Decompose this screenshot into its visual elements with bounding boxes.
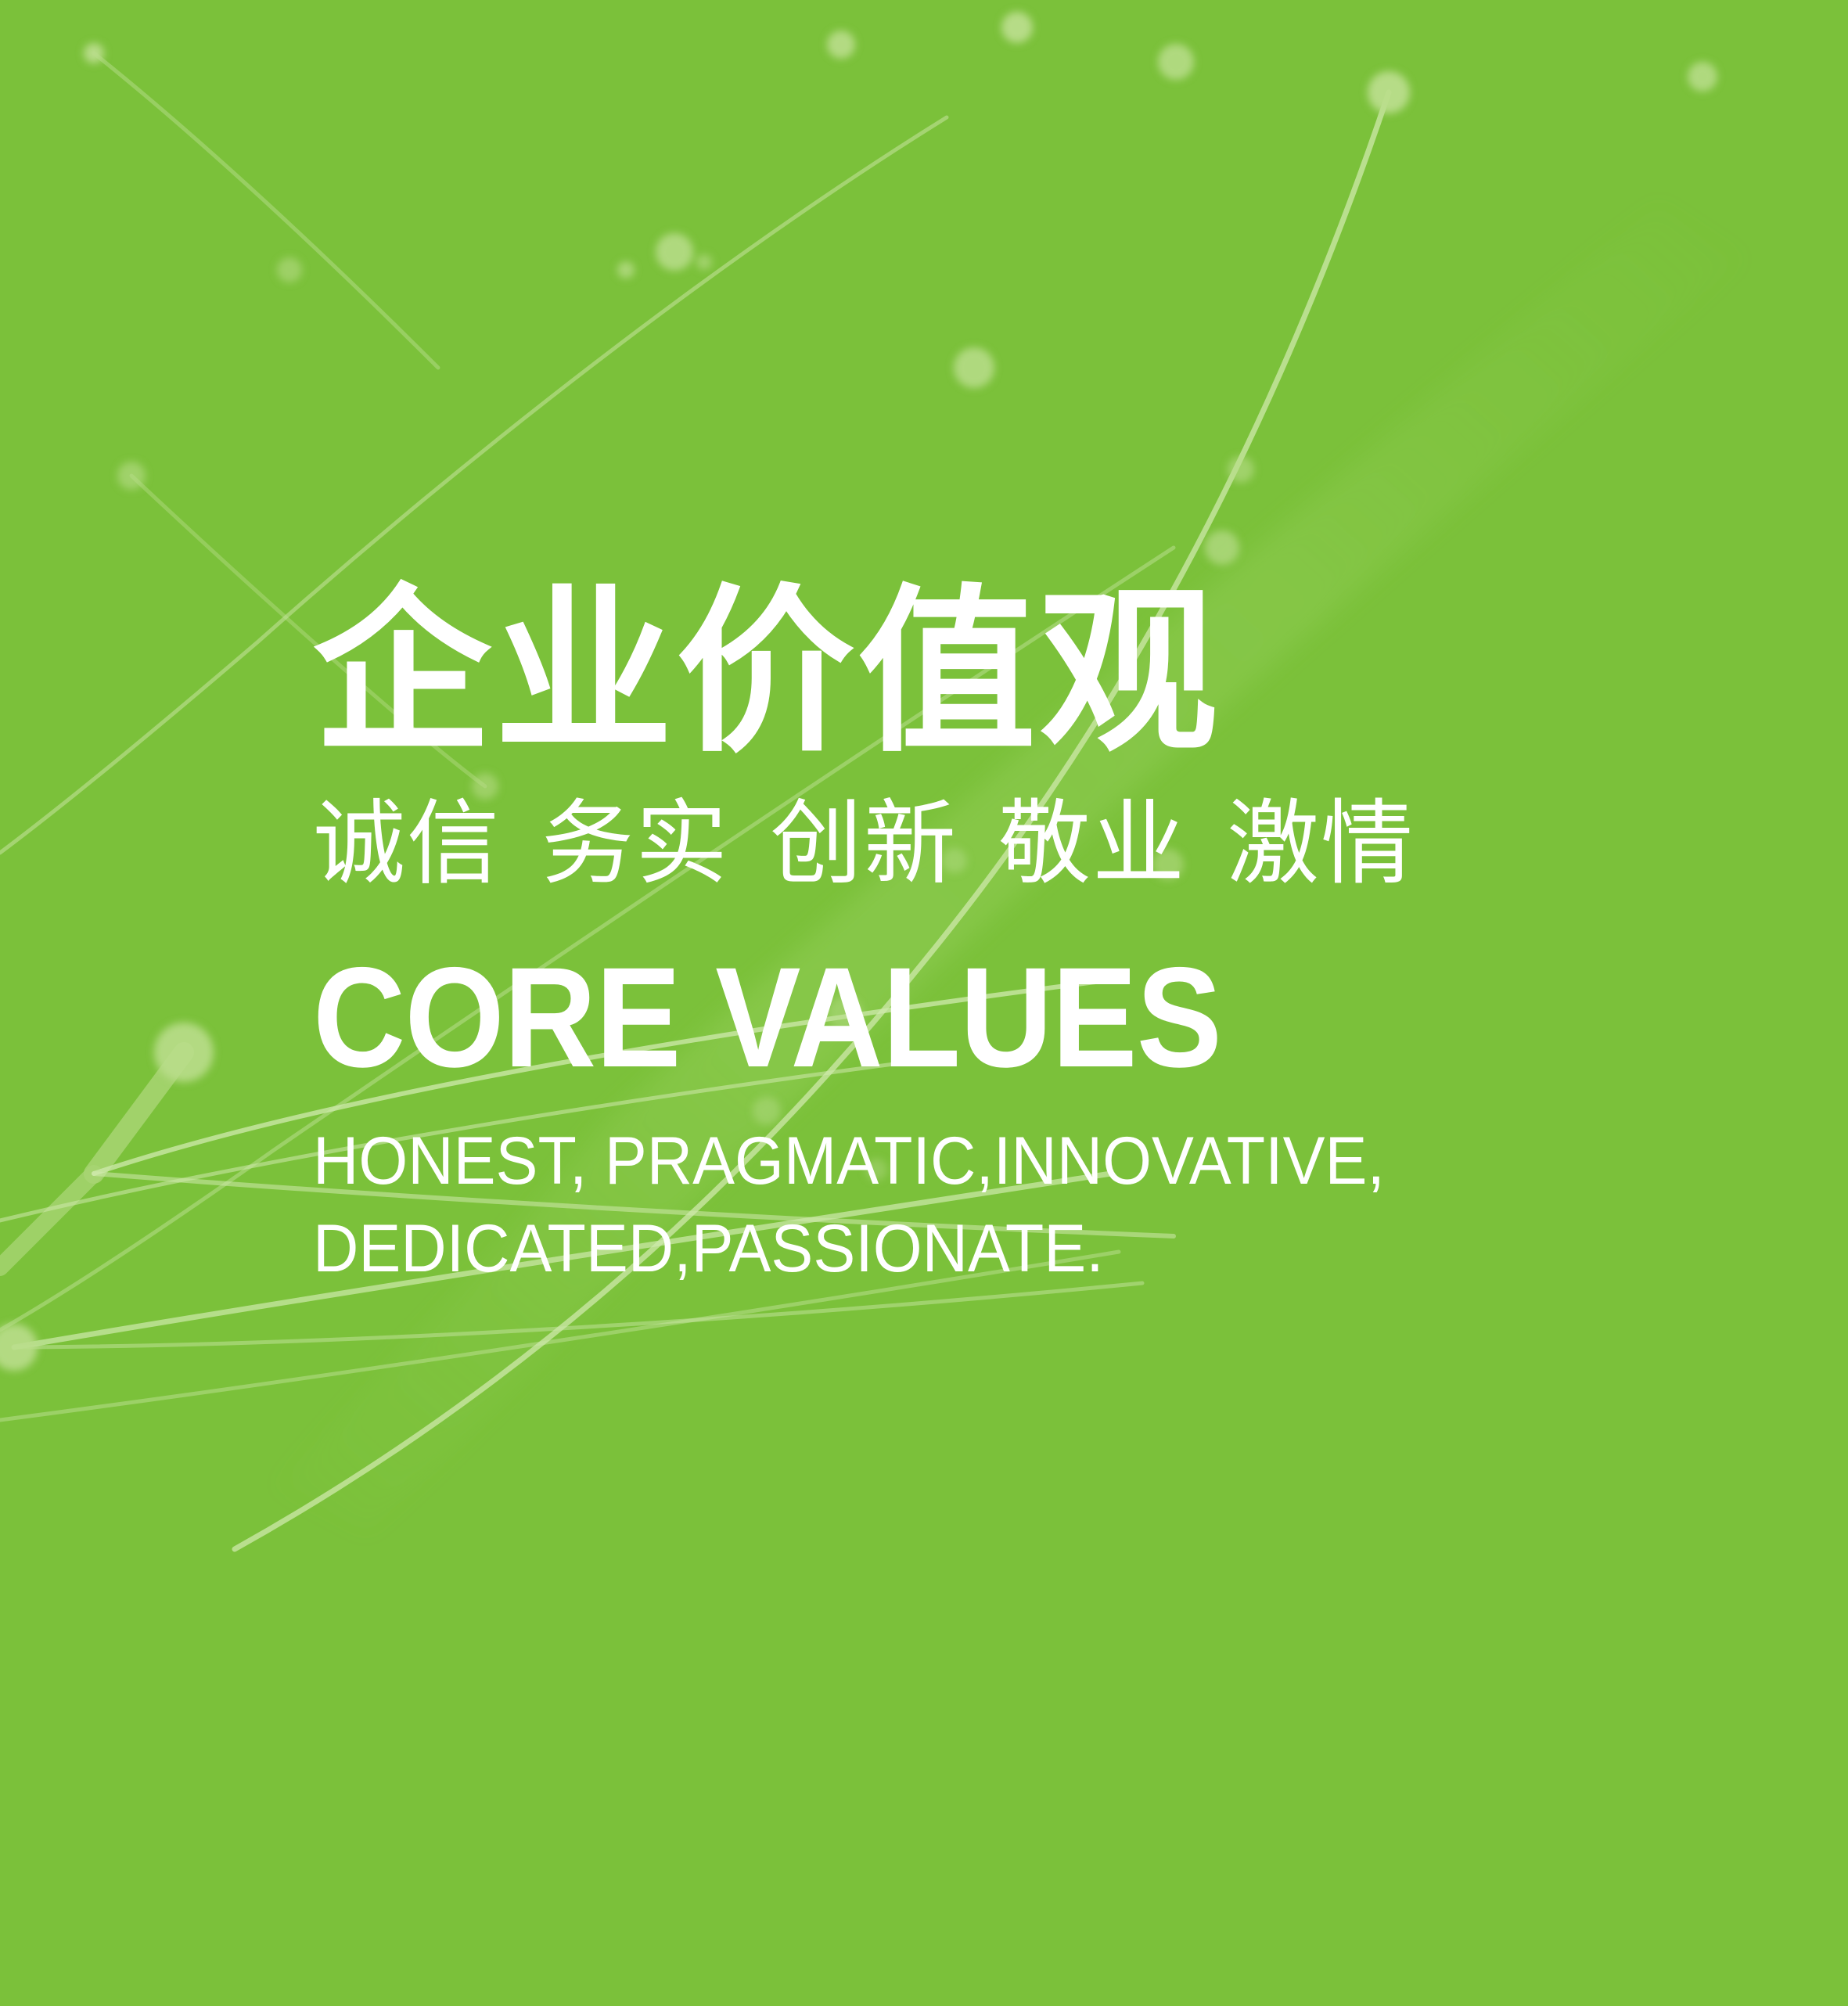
english-subtitle-line-1: HONEST, PRAGMATIC,INNOVATIVE, — [313, 1118, 1637, 1206]
chinese-value-word-2: 务实 — [541, 789, 729, 897]
chinese-subtitle: 诚信务实创新敬业激情 — [313, 797, 1721, 890]
english-subtitle: HONEST, PRAGMATIC,INNOVATIVE, DEDICATED,… — [313, 1118, 1637, 1293]
english-subtitle-line-2: DEDICATED,PASSIONATE. — [313, 1206, 1637, 1293]
core-values-poster: 企业价值观 诚信务实创新敬业激情 CORE VALUES HONEST, PRA… — [0, 0, 1848, 2006]
headline-block: 企业价值观 诚信务实创新敬业激情 CORE VALUES HONEST, PRA… — [313, 583, 1721, 1293]
page-title-chinese: 企业价值观 — [313, 583, 1721, 761]
chinese-value-word-4: 敬业 — [998, 789, 1186, 897]
page-title-english: CORE VALUES — [313, 946, 1580, 1088]
chinese-value-word-5: 激情 — [1227, 789, 1415, 897]
chinese-value-word-3: 创新 — [770, 789, 958, 897]
chinese-value-word-1: 诚信 — [313, 789, 501, 897]
